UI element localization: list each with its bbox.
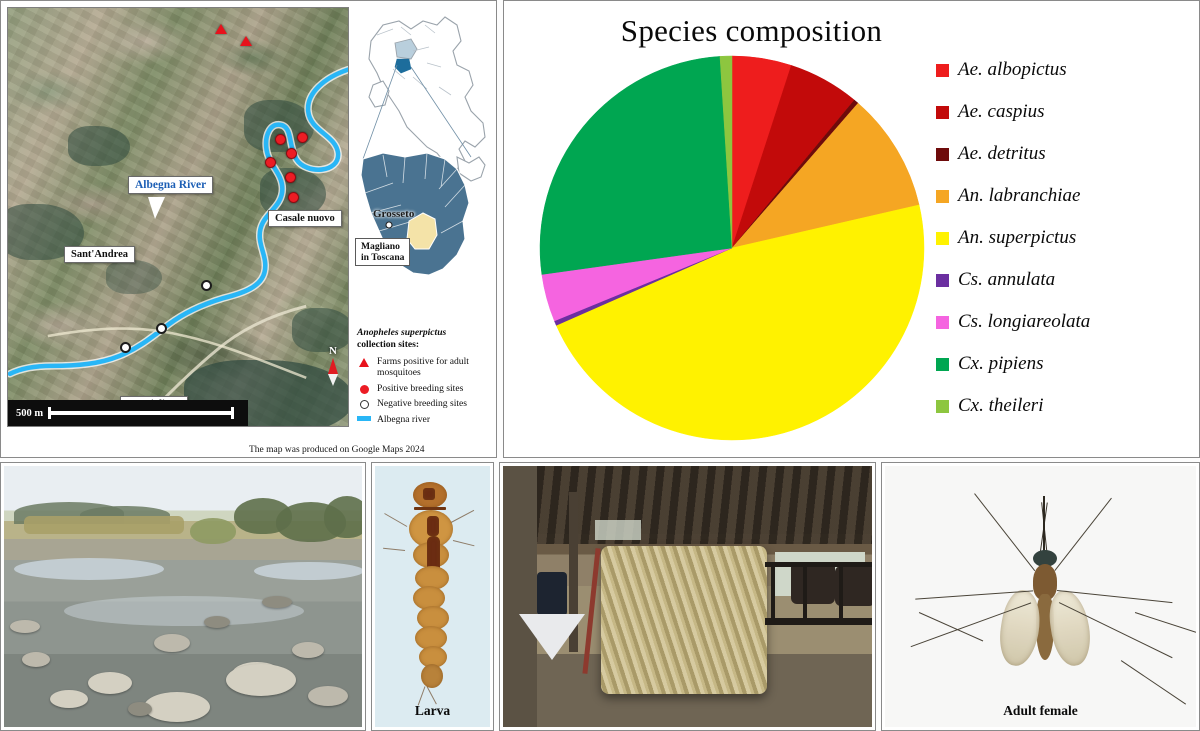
cattle (791, 562, 835, 604)
legend-swatch-icon (936, 358, 949, 371)
stone (50, 690, 88, 708)
adult-caption: Adult female (885, 703, 1196, 719)
larva-siphon (421, 664, 443, 688)
cattle-pen-post (803, 562, 807, 624)
pie-slice-cx-pipiens[interactable] (540, 56, 732, 274)
adult-photo-content: Adult female (885, 466, 1196, 727)
stone (226, 664, 296, 696)
inset-label-magliano-line2: in Toscana (361, 252, 404, 263)
marker-farm-positive[interactable] (215, 24, 227, 34)
hay-bale (601, 546, 767, 694)
study-area-map-panel: Albegna River Casale nuovo Sant'Andrea M… (0, 0, 497, 458)
barn-post (503, 466, 537, 727)
map-legend-item-farms: Farms positive for adult mosquitoes (357, 356, 493, 379)
barn-opening (595, 520, 641, 540)
photo-breeding-site-river (0, 462, 366, 731)
map-label-santandrea: Sant'Andrea (64, 246, 135, 263)
legend-item[interactable]: Cx. theileri (936, 385, 1191, 427)
legend-item[interactable]: Cx. pipiens (936, 343, 1191, 385)
locator-inset-map: Grosseto Magliano in Toscana (353, 7, 493, 317)
map-attribution: The map was produced on Google Maps 2024 (249, 445, 489, 455)
inset-label-magliano: Magliano in Toscana (355, 238, 410, 266)
legend-label: An. labranchiae (958, 185, 1080, 207)
tree-shape (324, 496, 362, 538)
pie-chart-svg[interactable] (537, 53, 927, 443)
stone (128, 702, 152, 716)
legend-item[interactable]: An. labranchiae (936, 175, 1191, 217)
marker-breeding-negative[interactable] (156, 323, 167, 334)
legend-swatch-icon (936, 64, 949, 77)
marker-breeding-positive[interactable] (285, 172, 296, 183)
stone (292, 642, 324, 658)
scale-bar-line (48, 411, 234, 415)
legend-swatch-icon (936, 316, 949, 329)
photo-adult-female: Adult female (881, 462, 1200, 731)
legend-item[interactable]: An. superpictus (936, 217, 1191, 259)
map-legend-label: Positive breeding sites (377, 383, 463, 395)
larva-specimen (403, 480, 463, 706)
satellite-map[interactable]: Albegna River Casale nuovo Sant'Andrea M… (7, 7, 349, 427)
map-label-albegna-river: Albegna River (128, 176, 213, 194)
map-legend-item-negative: Negative breeding sites (357, 398, 493, 410)
marker-farm-positive[interactable] (240, 36, 252, 46)
stone (88, 672, 132, 694)
legend-swatch-icon (936, 400, 949, 413)
cattle-pen-post (771, 562, 775, 624)
legend-swatch-icon (936, 148, 949, 161)
stone (262, 596, 292, 608)
cattle-pen-post (839, 562, 843, 624)
stone (204, 616, 230, 628)
marker-breeding-positive[interactable] (288, 192, 299, 203)
stone (154, 634, 190, 652)
map-legend-item-positive: Positive breeding sites (357, 383, 493, 395)
triangle-icon (357, 356, 371, 367)
water-pool (254, 562, 362, 580)
legend-label: Ae. detritus (958, 143, 1046, 165)
scale-bar-label: 500 m (16, 408, 43, 419)
pie-chart[interactable] (537, 53, 927, 443)
chart-legend: Ae. albopictusAe. caspiusAe. detritusAn.… (936, 49, 1191, 427)
species-composition-panel: Species composition Ae. albopictusAe. ca… (503, 0, 1200, 458)
river-photo-content (4, 466, 362, 727)
mosquito-trap-net (519, 614, 585, 660)
circle-outline-icon (357, 398, 371, 409)
mosquito-trap-canister (537, 572, 567, 616)
circle-filled-icon (357, 383, 371, 394)
legend-label: An. superpictus (958, 227, 1076, 249)
legend-item[interactable]: Ae. caspius (936, 91, 1191, 133)
barn-roof-trusses (503, 466, 872, 544)
north-arrow-tail (328, 374, 338, 386)
legend-label: Cs. longiareolata (958, 311, 1090, 333)
tree-shape (24, 516, 184, 534)
legend-swatch-icon (936, 274, 949, 287)
marker-breeding-negative[interactable] (201, 280, 212, 291)
legend-item[interactable]: Cs. annulata (936, 259, 1191, 301)
legend-item[interactable]: Cs. longiareolata (936, 301, 1191, 343)
map-legend-label: Negative breeding sites (377, 398, 467, 410)
map-label-casale-nuovo: Casale nuovo (268, 210, 342, 227)
map-legend-item-river: Albegna river (357, 414, 493, 426)
larva-caption: Larva (375, 703, 490, 719)
legend-label: Ae. caspius (958, 101, 1045, 123)
larva-head-marking (423, 488, 435, 500)
stone (144, 692, 210, 722)
north-arrow: N (328, 345, 338, 386)
legend-item[interactable]: Ae. detritus (936, 133, 1191, 175)
map-scale-bar: 500 m (8, 400, 248, 426)
map-legend-title-rest: collection sites: (357, 339, 419, 350)
map-legend-title: Anopheles superpictus collection sites: (357, 327, 493, 351)
marker-breeding-positive[interactable] (297, 132, 308, 143)
marker-breeding-positive[interactable] (265, 157, 276, 168)
legend-label: Cx. pipiens (958, 353, 1044, 375)
proboscis (1043, 496, 1045, 558)
photo-barn-trap-site (499, 462, 876, 731)
larva-photo-content: Larva (375, 466, 490, 727)
map-legend-label: Farms positive for adult mosquitoes (377, 356, 493, 379)
marker-breeding-negative[interactable] (120, 342, 131, 353)
cattle-pen-rail (765, 562, 872, 567)
stone (10, 620, 40, 633)
larva-hair (426, 686, 436, 704)
water-pool (14, 558, 164, 580)
legend-label: Cs. annulata (958, 269, 1055, 291)
inset-label-grosseto: Grosseto (373, 208, 414, 220)
marker-breeding-positive[interactable] (275, 134, 286, 145)
legend-swatch-icon (936, 106, 949, 119)
photo-larva: Larva (371, 462, 494, 731)
chart-title: Species composition (504, 13, 1199, 49)
legend-item[interactable]: Ae. albopictus (936, 49, 1191, 91)
legend-swatch-icon (936, 232, 949, 245)
line-icon (357, 414, 371, 421)
larva-thorax-marking (427, 516, 439, 536)
legend-label: Ae. albopictus (958, 59, 1067, 81)
north-arrow-label: N (328, 345, 338, 357)
stone (308, 686, 348, 706)
legend-swatch-icon (936, 190, 949, 203)
map-legend: Anopheles superpictus collection sites: … (357, 327, 493, 429)
figure-composite: Albegna River Casale nuovo Sant'Andrea M… (0, 0, 1200, 731)
stone (22, 652, 50, 667)
map-label-pointer (148, 197, 165, 219)
map-legend-label: Albegna river (377, 414, 430, 426)
tree-shape (190, 518, 236, 544)
cattle-pen-rail (765, 618, 872, 625)
barn-photo-content (503, 466, 872, 727)
legend-label: Cx. theileri (958, 395, 1043, 417)
north-arrow-head (328, 358, 338, 374)
map-legend-title-species: Anopheles superpictus (357, 327, 446, 338)
inset-label-magliano-line1: Magliano (361, 241, 404, 252)
marker-breeding-positive[interactable] (286, 148, 297, 159)
